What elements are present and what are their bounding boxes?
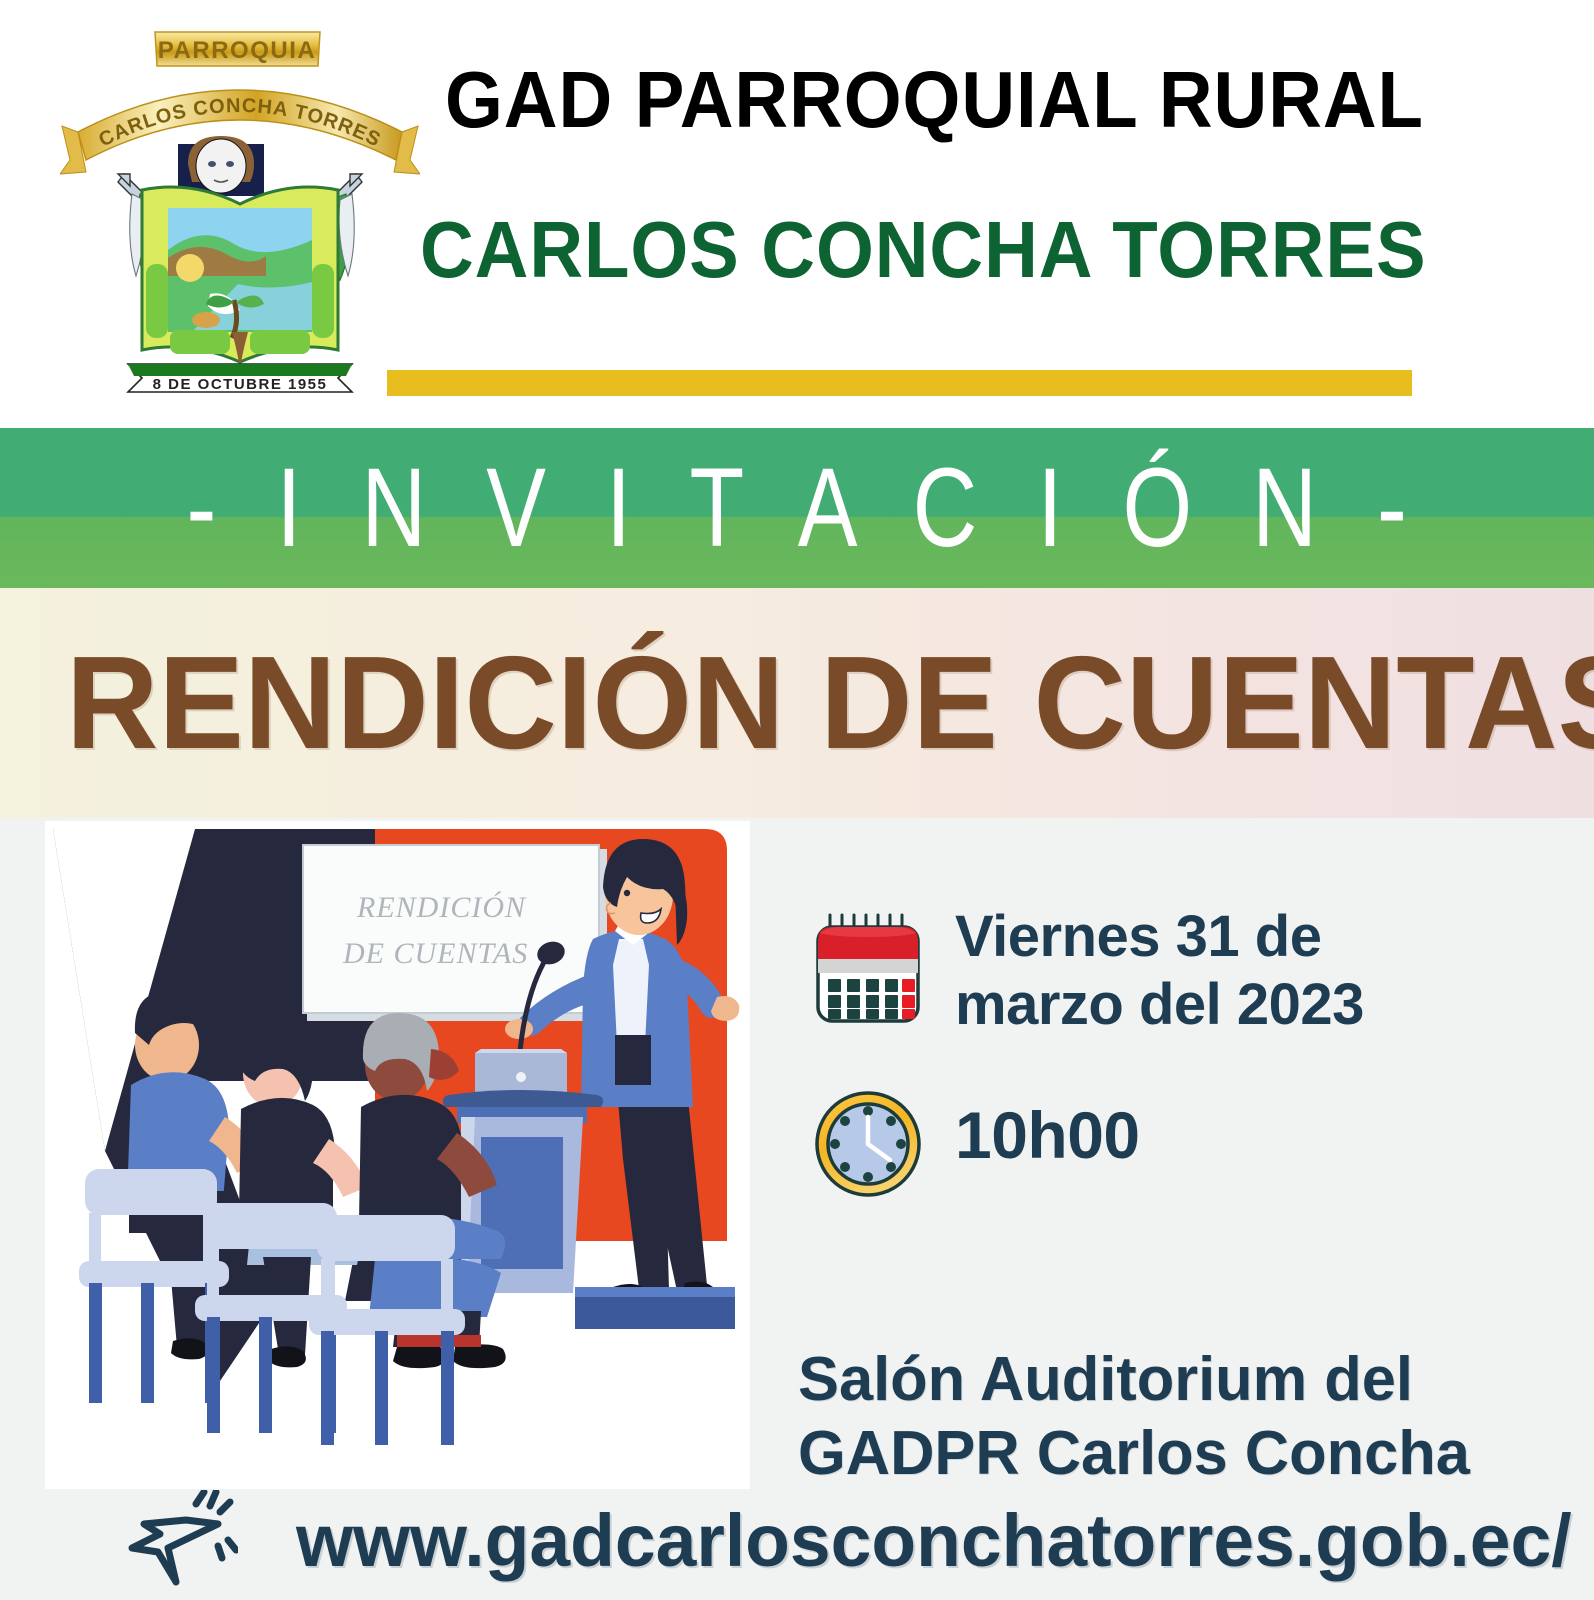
crest-shield <box>142 187 338 374</box>
clock-icon <box>780 1078 955 1204</box>
svg-text:8 DE OCTUBRE 1955: 8 DE OCTUBRE 1955 <box>153 376 328 393</box>
website-url[interactable]: www.gadcarlosconchatorres.gob.ec/ <box>296 1498 1572 1583</box>
org-title-line1: GAD PARROQUIAL RURAL <box>445 60 1380 140</box>
parish-coat-of-arms: PARROQUIA CARLOS CONCHA TORRES <box>60 14 420 414</box>
page-title: RENDICIÓN DE CUENTAS 2022 <box>66 620 1594 785</box>
accountability-illustration: RENDICIÓN DE CUENTAS <box>45 821 750 1489</box>
calendar-icon <box>780 903 955 1029</box>
event-time-text: 10h00 <box>955 1078 1140 1168</box>
poster-header: PARROQUIA CARLOS CONCHA TORRES <box>0 0 1594 425</box>
event-date-text: Viernes 31 de marzo del 2023 <box>955 903 1364 1040</box>
poster-footer: www.gadcarlosconchatorres.gob.ec/ <box>0 1480 1594 1600</box>
event-date-line2: marzo del 2023 <box>955 971 1364 1039</box>
click-cursor-icon <box>118 1490 238 1590</box>
chair-1 <box>79 1169 229 1403</box>
event-location-line1: Salón Auditorium del <box>798 1343 1570 1417</box>
svg-text:PARROQUIA: PARROQUIA <box>158 37 316 64</box>
event-location-text: Salón Auditorium del GADPR Carlos Concha <box>798 1343 1570 1492</box>
invitation-banner: - I N V I T A C I Ó N - <box>0 428 1594 588</box>
gold-divider-rule <box>387 370 1412 396</box>
whiteboard-line2: DE CUENTAS <box>342 937 528 970</box>
crest-base-banner: 8 DE OCTUBRE 1955 <box>128 364 352 393</box>
invitation-label: - I N V I T A C I Ó N - <box>169 452 1425 564</box>
org-title-line2: CARLOS CONCHA TORRES <box>420 210 1378 290</box>
main-title-band: RENDICIÓN DE CUENTAS 2022 <box>0 588 1594 818</box>
event-date-line1: Viernes 31 de <box>955 903 1364 971</box>
event-details: Viernes 31 de marzo del 2023 <box>780 903 1570 1204</box>
header-title-block: GAD PARROQUIAL RURAL CARLOS CONCHA TORRE… <box>420 60 1450 360</box>
crest-ribbon-top: PARROQUIA <box>155 32 320 66</box>
chair-3 <box>309 1215 465 1445</box>
event-time-row: 10h00 <box>780 1078 1570 1204</box>
event-date-row: Viernes 31 de marzo del 2023 <box>780 903 1570 1040</box>
whiteboard-line1: RENDICIÓN <box>356 891 527 924</box>
